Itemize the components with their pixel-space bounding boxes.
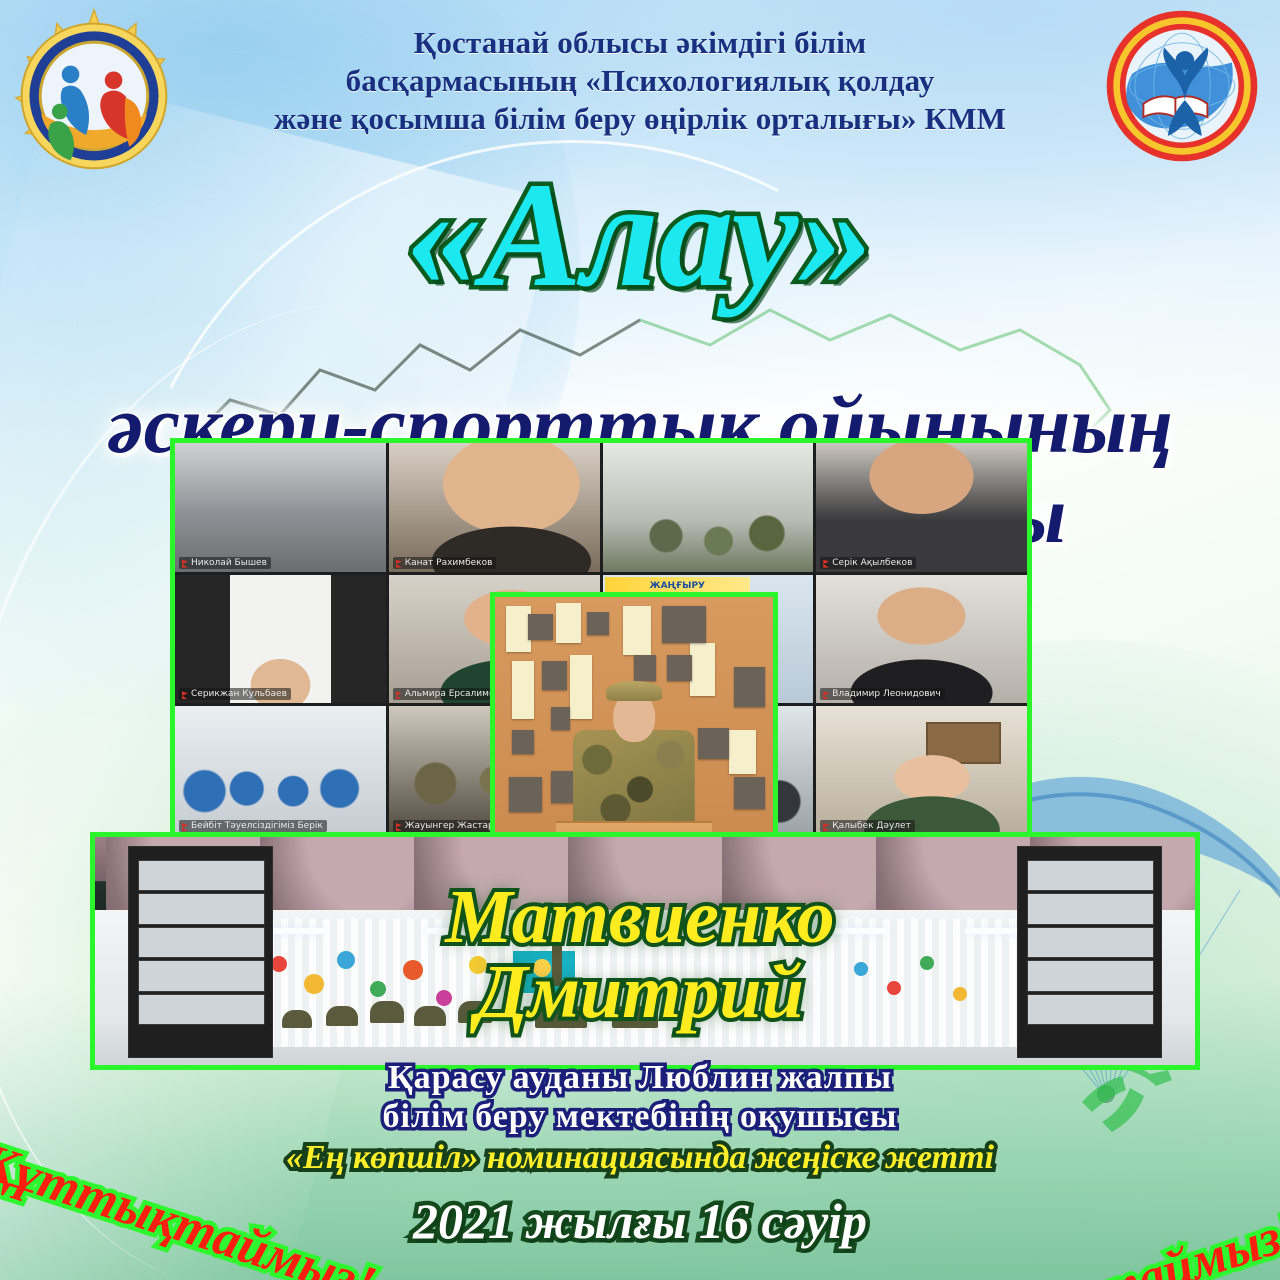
cadet-cap bbox=[606, 681, 662, 701]
winner-surname: Матвиенко bbox=[340, 880, 940, 955]
video-tile: Владимир Леонидович bbox=[816, 575, 1027, 704]
school-line-1: Қарасу ауданы Люблин жалпы bbox=[0, 1058, 1280, 1097]
video-tile bbox=[603, 443, 814, 572]
video-tile: Серикжан Кульбаев bbox=[175, 575, 386, 704]
video-tile: Канат Рахимбеков bbox=[389, 443, 600, 572]
participant-name: Канат Рахимбеков bbox=[393, 557, 497, 569]
winner-name: Матвиенко Дмитрий bbox=[340, 880, 940, 1030]
video-tile: Серік Ақылбеков bbox=[816, 443, 1027, 572]
video-tile: Қалыбек Дәулет bbox=[816, 706, 1027, 835]
republican-education-center-logo bbox=[1102, 6, 1262, 166]
participant-name: Серік Ақылбеков bbox=[820, 557, 916, 569]
poster-root: Қостанай облысы әкімдігі білім басқармас… bbox=[0, 0, 1280, 1280]
header-line-3: және қосымша білім беру өңірлік орталығы… bbox=[190, 100, 1090, 138]
participant-name: Бейбіт Тәуелсіздігіміз Берік bbox=[179, 820, 327, 832]
participant-name: Николай Бышев bbox=[179, 557, 271, 569]
video-sidebar-right bbox=[1017, 846, 1162, 1058]
video-sidebar-left bbox=[128, 846, 273, 1058]
cadet-uniform bbox=[573, 730, 695, 829]
participant-name: Қалыбек Дәулет bbox=[820, 820, 915, 832]
school-caption: Қарасу ауданы Люблин жалпы білім беру ме… bbox=[0, 1058, 1280, 1137]
organization-header: Қостанай облысы әкімдігі білім басқармас… bbox=[190, 24, 1090, 137]
video-tile: Николай Бышев bbox=[175, 443, 386, 572]
event-title: «Алау» bbox=[0, 160, 1280, 310]
header-line-2: басқармасының «Психологиялық қолдау bbox=[190, 62, 1090, 100]
nomination-caption: «Ең көпшіл» номинациясында жеңіске жетті bbox=[0, 1139, 1280, 1177]
psychological-support-center-logo bbox=[6, 4, 182, 180]
header-line-1: Қостанай облысы әкімдігі білім bbox=[190, 24, 1090, 62]
school-line-2: білім беру мектебінің оқушысы bbox=[0, 1097, 1280, 1136]
participant-name: Серикжан Кульбаев bbox=[179, 688, 291, 700]
video-tile: Бейбіт Тәуелсіздігіміз Берік bbox=[175, 706, 386, 835]
winner-firstname: Дмитрий bbox=[340, 955, 940, 1030]
participant-name: Владимир Леонидович bbox=[820, 688, 944, 700]
